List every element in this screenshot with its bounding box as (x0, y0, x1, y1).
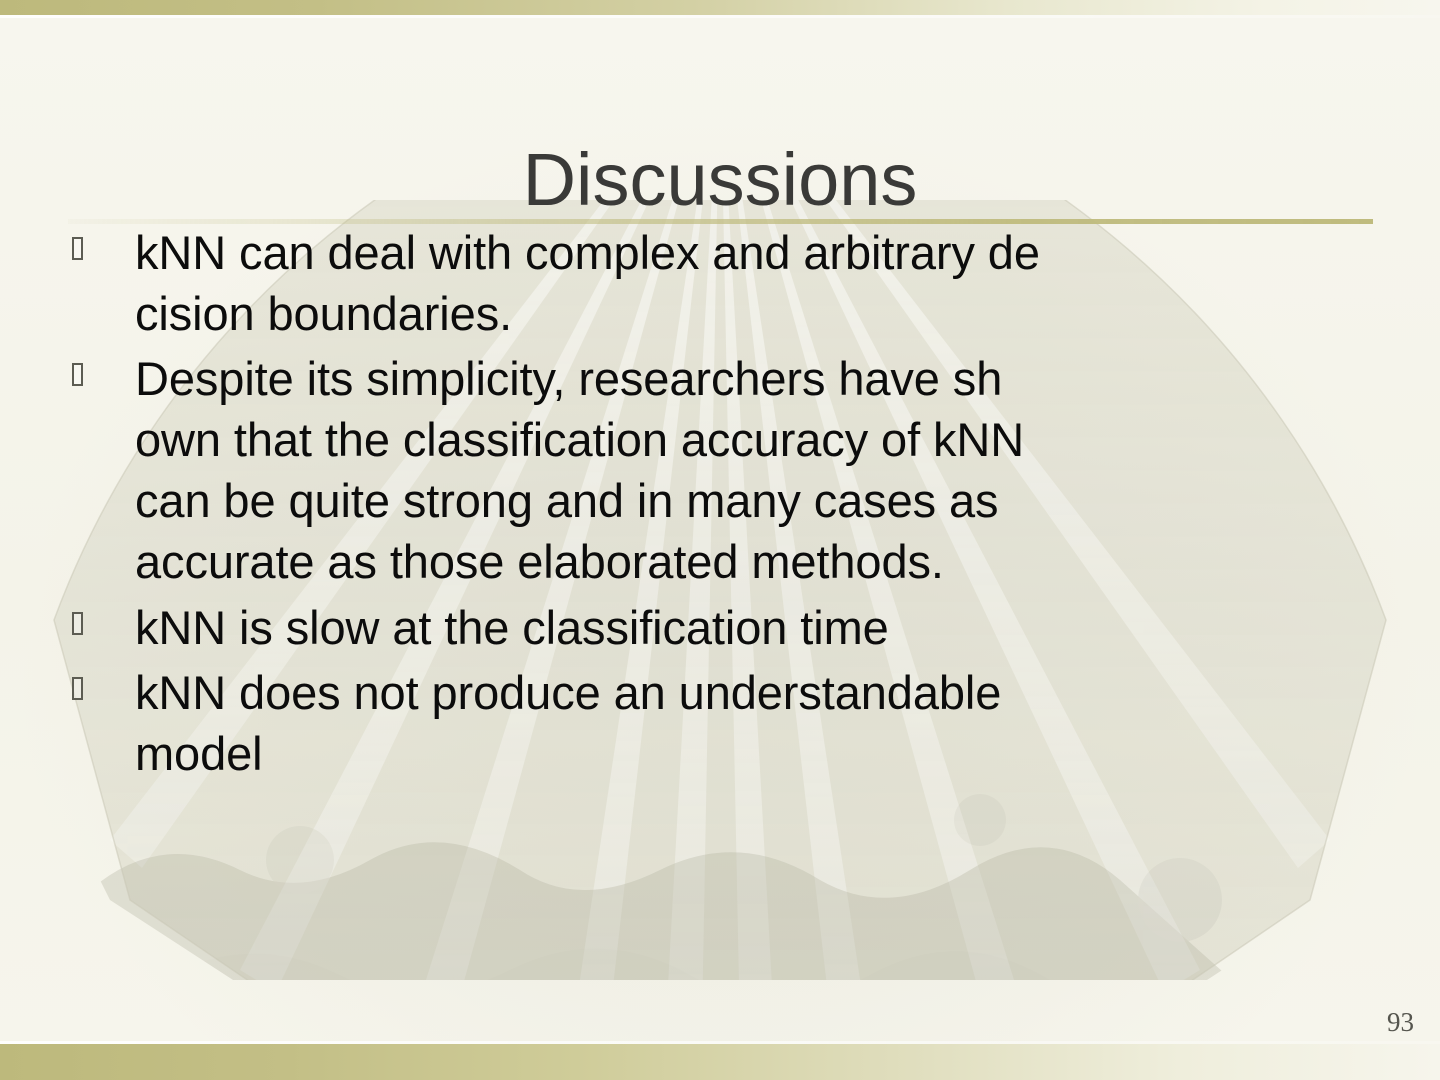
bottom-accent-bar (0, 1044, 1440, 1080)
bullet-list: kNN can deal with complex and arbitrary … (72, 222, 1382, 788)
slide: Discussions kNN can deal with complex an… (0, 0, 1440, 1080)
list-item-text: Despite its simplicity, researchers have… (135, 348, 1382, 592)
page-number: 93 (1387, 1007, 1414, 1038)
list-item: kNN does not produce an understandable m… (72, 662, 1382, 784)
page-title: Discussions (0, 143, 1440, 217)
missing-glyph-box-icon (72, 363, 83, 386)
list-item: Despite its simplicity, researchers have… (72, 348, 1382, 592)
list-item: kNN can deal with complex and arbitrary … (72, 222, 1382, 344)
list-item-text: kNN can deal with complex and arbitrary … (135, 222, 1382, 344)
list-item-text: kNN does not produce an understandable m… (135, 662, 1382, 784)
missing-glyph-box-icon (72, 612, 83, 635)
top-accent-bar-highlight (0, 15, 1440, 18)
missing-glyph-box-icon (72, 237, 83, 260)
top-accent-bar (0, 0, 1440, 15)
list-item-text: kNN is slow at the classification time (135, 597, 1382, 658)
list-item: kNN is slow at the classification time (72, 597, 1382, 658)
missing-glyph-box-icon (72, 677, 83, 700)
